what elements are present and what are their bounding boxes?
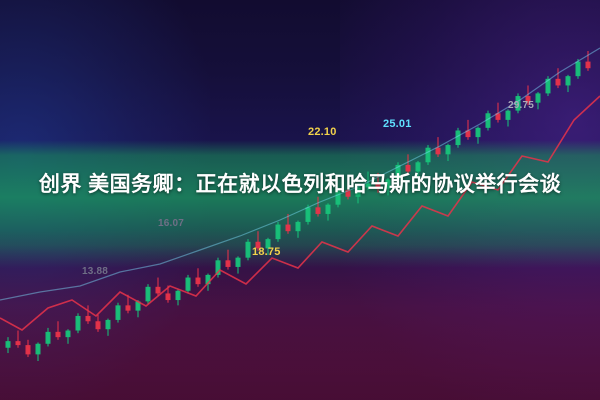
news-image-card: 29.75 25.01 22.10 18.75 16.07 13.88 创界 美… — [0, 0, 600, 400]
price-label-29-75: 29.75 — [508, 100, 534, 111]
headline-text: 创界 美国务卿：正在就以色列和哈马斯的协议举行会谈 — [14, 168, 586, 202]
price-label-25-01: 25.01 — [383, 118, 412, 130]
price-label-18-75: 18.75 — [252, 246, 281, 258]
headline-container: 创界 美国务卿：正在就以色列和哈马斯的协议举行会谈 — [0, 168, 600, 202]
price-label-22-10: 22.10 — [308, 126, 337, 138]
price-label-16-07: 16.07 — [158, 218, 184, 229]
price-label-13-88: 13.88 — [82, 266, 108, 277]
